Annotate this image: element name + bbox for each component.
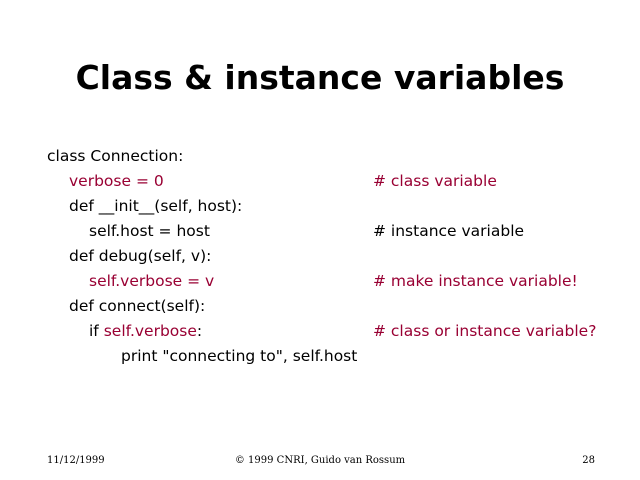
slide-canvas: Class & instance variables class Connect… (0, 0, 640, 480)
code-line: verbose = 0# class variable (47, 169, 627, 194)
code-segment: self.host = host (89, 222, 210, 240)
code-segment: : (197, 322, 202, 340)
page-title: Class & instance variables (0, 58, 640, 98)
code-line: self.verbose = v# make instance variable… (47, 269, 627, 294)
code-segment: if (89, 322, 104, 340)
footer-page-number: 28 (582, 455, 595, 466)
code-line: def connect(self): (47, 294, 627, 319)
code-segment: def __init__(self, host): (69, 197, 242, 215)
code-line: class Connection: (47, 144, 627, 169)
code-line-text: verbose = 0 (47, 169, 164, 194)
code-comment: # class variable (373, 169, 497, 194)
code-line-text: if self.verbose: (47, 319, 202, 344)
code-line: print "connecting to", self.host (47, 344, 627, 369)
code-segment: def connect(self): (69, 297, 205, 315)
code-segment: print "connecting to", self.host (121, 347, 357, 365)
code-segment: self.verbose (104, 322, 197, 340)
code-segment: class Connection: (47, 147, 183, 165)
code-line-text: def __init__(self, host): (47, 194, 242, 219)
code-line: self.host = host# instance variable (47, 219, 627, 244)
code-line-text: def debug(self, v): (47, 244, 211, 269)
code-segment: verbose = 0 (69, 172, 164, 190)
code-line: if self.verbose:# class or instance vari… (47, 319, 627, 344)
code-line-text: def connect(self): (47, 294, 205, 319)
code-line: def __init__(self, host): (47, 194, 627, 219)
code-comment: # make instance variable! (373, 269, 578, 294)
code-comment: # class or instance variable? (373, 319, 596, 344)
code-segment: self.verbose = v (89, 272, 214, 290)
code-comment: # instance variable (373, 219, 524, 244)
slide-footer: 11/12/1999 © 1999 CNRI, Guido van Rossum… (0, 455, 640, 475)
code-line-text: class Connection: (47, 144, 183, 169)
code-line: def debug(self, v): (47, 244, 627, 269)
code-line-text: self.verbose = v (47, 269, 214, 294)
code-block: class Connection:verbose = 0# class vari… (47, 144, 627, 369)
code-line-text: self.host = host (47, 219, 210, 244)
code-line-text: print "connecting to", self.host (47, 344, 357, 369)
footer-copyright: © 1999 CNRI, Guido van Rossum (0, 455, 640, 466)
code-segment: def debug(self, v): (69, 247, 211, 265)
